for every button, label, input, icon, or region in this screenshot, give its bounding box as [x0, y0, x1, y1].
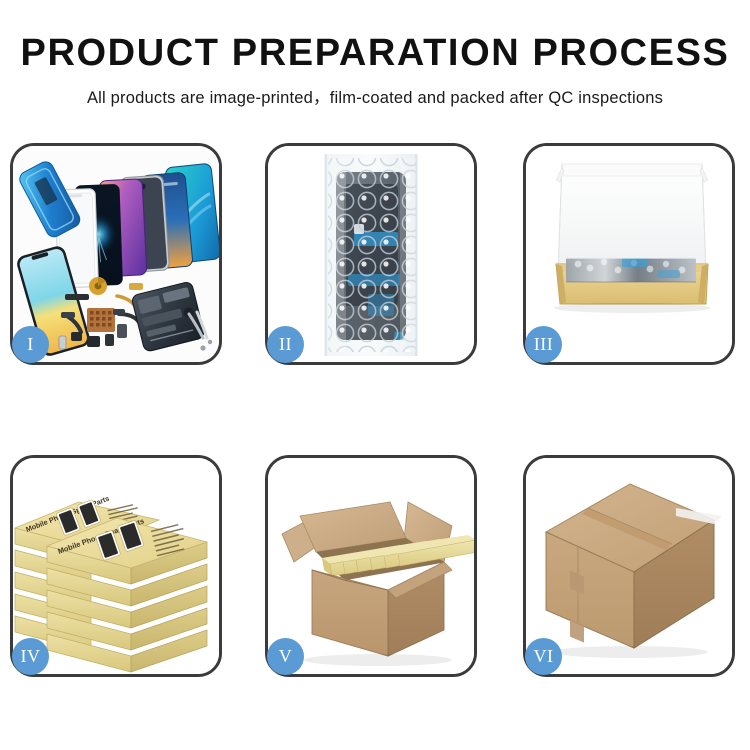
page-title: PRODUCT PREPARATION PROCESS	[0, 34, 750, 74]
step-badge-3: III	[525, 326, 562, 363]
inner-box-packing-illustration	[526, 146, 732, 362]
step-badge-2: II	[267, 326, 304, 363]
step-badge-5: V	[267, 638, 304, 675]
stacked-boxes-illustration: Mobile Phone Spare Parts	[13, 458, 219, 674]
header: PRODUCT PREPARATION PROCESS All products…	[0, 0, 750, 108]
step-panel-2[interactable]: II	[265, 143, 477, 365]
step-image-4: Mobile Phone Spare Parts	[13, 458, 219, 674]
step-image-6	[526, 458, 732, 674]
sealed-carton-illustration	[526, 458, 732, 674]
step-panel-6[interactable]: VI	[523, 455, 735, 677]
step-badge-6: VI	[525, 638, 562, 675]
steps-grid: I	[10, 143, 738, 673]
step-panel-5[interactable]: V	[265, 455, 477, 677]
step-panel-4[interactable]: Mobile Phone Spare Parts	[10, 455, 222, 677]
product-preparation-infographic: PRODUCT PREPARATION PROCESS All products…	[0, 0, 750, 750]
step-badge-1: I	[12, 326, 49, 363]
step-panel-3[interactable]: III	[523, 143, 735, 365]
step-image-2	[268, 146, 474, 362]
carton-filling-illustration	[268, 458, 474, 674]
step-image-3	[526, 146, 732, 362]
page-subtitle: All products are image-printed，film-coat…	[0, 84, 750, 108]
step-badge-4: IV	[12, 638, 49, 675]
step-panel-1[interactable]: I	[10, 143, 222, 365]
step-image-5	[268, 458, 474, 674]
phones-and-parts-illustration	[13, 146, 219, 362]
bubble-wrapped-part-illustration	[268, 146, 474, 362]
step-image-1	[13, 146, 219, 362]
